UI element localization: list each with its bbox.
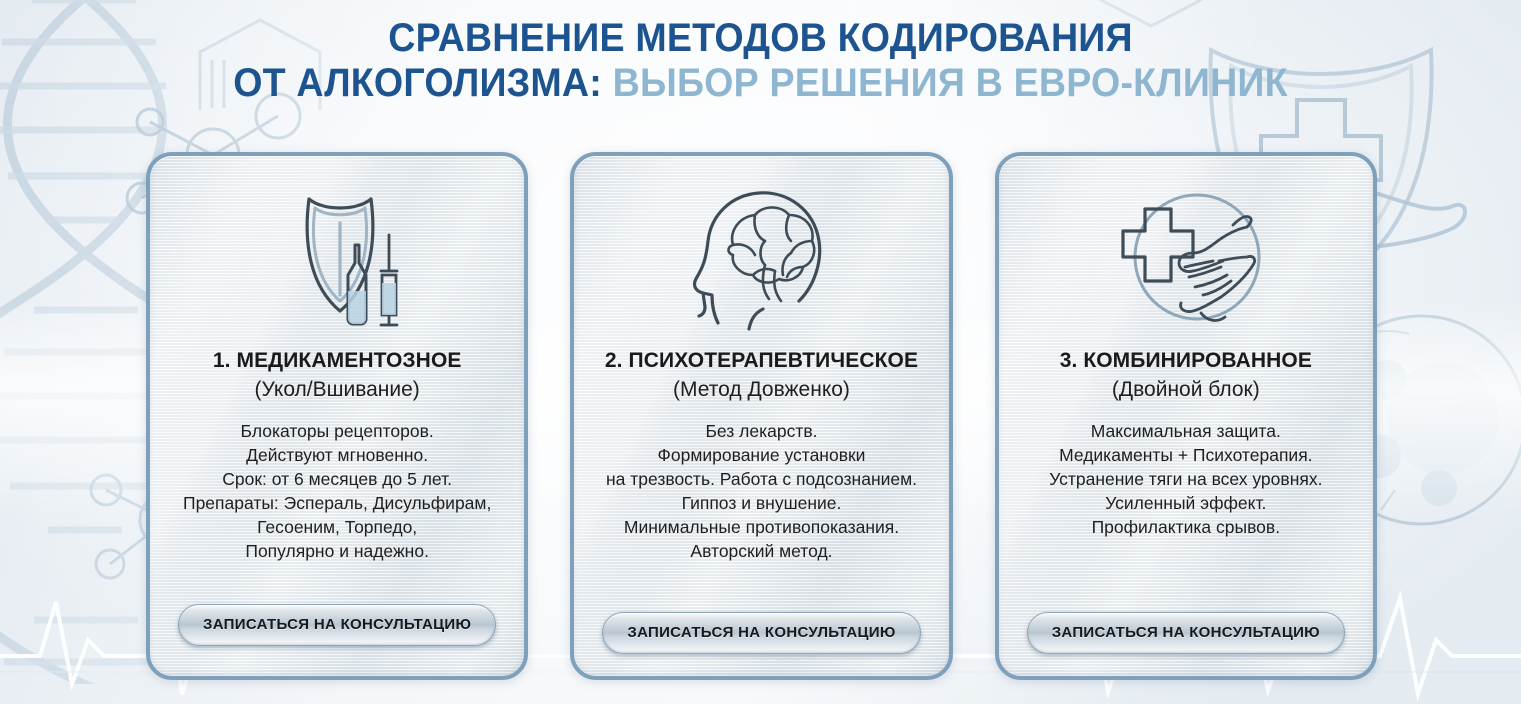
head-brain-icon — [681, 174, 841, 342]
card-body-line: Усиленный эффект. — [1049, 491, 1322, 515]
card-body-line: Без лекарств. — [606, 419, 917, 443]
card-heading: 1. МЕДИКАМЕНТОЗНОЕ — [213, 348, 462, 373]
method-card-medication[interactable]: 1. МЕДИКАМЕНТОЗНОЕ (Укол/Вшивание) Блока… — [146, 152, 528, 680]
card-body-line: Гиппоз и внушение. — [606, 491, 917, 515]
method-card-psychotherapy[interactable]: 2. ПСИХОТЕРАПЕВТИЧЕСКОЕ (Метод Довженко)… — [570, 152, 952, 680]
card-body-line: Срок: от 6 месяцев до 5 лет. — [183, 467, 491, 491]
title-line-2-main: ОТ АЛКОГОЛИЗМА: — [233, 61, 602, 105]
card-subheading: (Двойной блок) — [1112, 376, 1260, 403]
method-cards-row: 1. МЕДИКАМЕНТОЗНОЕ (Укол/Вшивание) Блока… — [146, 152, 1377, 680]
page-title: СРАВНЕНИЕ МЕТОДОВ КОДИРОВАНИЯ ОТ АЛКОГОЛ… — [0, 16, 1521, 106]
book-consultation-button[interactable]: ЗАПИСАТЬСЯ НА КОНСУЛЬТАЦИЮ — [178, 604, 496, 646]
infographic-banner: СРАВНЕНИЕ МЕТОДОВ КОДИРОВАНИЯ ОТ АЛКОГОЛ… — [0, 0, 1521, 704]
title-line-2: ОТ АЛКОГОЛИЗМА: ВЫБОР РЕШЕНИЯ В ЕВРО-КЛИ… — [46, 61, 1476, 106]
title-line-1: СРАВНЕНИЕ МЕТОДОВ КОДИРОВАНИЯ — [46, 16, 1476, 61]
card-body-line: Медикаменты + Психотерапия. — [1049, 443, 1322, 467]
card-body-line: Авторский метод. — [606, 539, 917, 563]
method-card-combined[interactable]: 3. КОМБИНИРОВАННОЕ (Двойной блок) Максим… — [995, 152, 1377, 680]
card-body-line: Гесоеним, Торпедо, — [183, 515, 491, 539]
card-heading: 3. КОМБИНИРОВАННОЕ — [1060, 348, 1312, 373]
book-consultation-button[interactable]: ЗАПИСАТЬСЯ НА КОНСУЛЬТАЦИЮ — [1027, 612, 1345, 654]
cross-helping-hands-icon — [1101, 174, 1271, 342]
card-subheading: (Укол/Вшивание) — [255, 376, 420, 403]
card-subheading: (Метод Довженко) — [673, 376, 850, 403]
card-body-line: Формирование установки — [606, 443, 917, 467]
card-body: Максимальная защита. Медикаменты + Психо… — [1047, 419, 1324, 539]
card-body: Блокаторы рецепторов. Действуют мгновенн… — [181, 419, 493, 563]
card-body-line: Профилактика срывов. — [1049, 515, 1322, 539]
card-body-line: Максимальная защита. — [1049, 419, 1322, 443]
card-body-line: Минимальные противопоказания. — [606, 515, 917, 539]
card-body-line: Популярно и надежно. — [183, 539, 491, 563]
card-heading: 2. ПСИХОТЕРАПЕВТИЧЕСКОЕ — [605, 348, 918, 373]
shield-ampoule-syringe-icon — [257, 174, 417, 342]
title-line-2-accent: ВЫБОР РЕШЕНИЯ В ЕВРО-КЛИНИК — [613, 61, 1288, 105]
book-consultation-button[interactable]: ЗАПИСАТЬСЯ НА КОНСУЛЬТАЦИЮ — [602, 612, 920, 654]
card-body: Без лекарств. Формирование установки на … — [604, 419, 919, 563]
card-body-line: на трезвость. Работа с подсознанием. — [606, 467, 917, 491]
card-body-line: Препараты: Эспераль, Дисульфирам, — [183, 491, 491, 515]
card-body-line: Блокаторы рецепторов. — [183, 419, 491, 443]
card-body-line: Устранение тяги на всех уровнях. — [1049, 467, 1322, 491]
card-body-line: Действуют мгновенно. — [183, 443, 491, 467]
